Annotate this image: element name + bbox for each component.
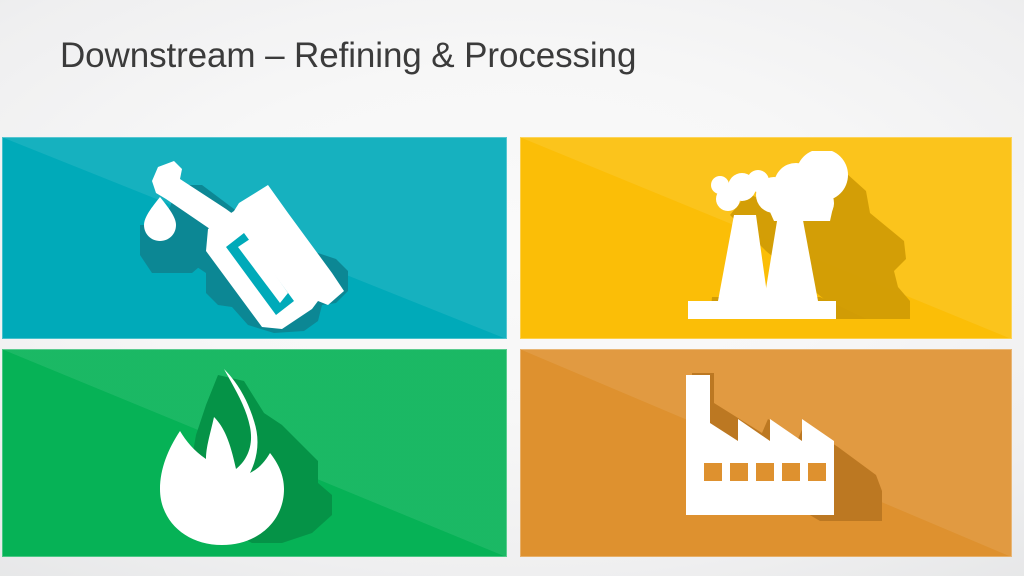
flame-icon (2, 349, 507, 557)
slide-canvas: Downstream – Refining & Processing (0, 0, 1024, 576)
factory-icon (520, 349, 1012, 557)
panel-smokestacks[interactable] (520, 137, 1012, 339)
page-title: Downstream – Refining & Processing (60, 30, 960, 82)
panel-flame[interactable] (2, 349, 507, 557)
panel-factory[interactable] (520, 349, 1012, 557)
fuel-nozzle-icon (2, 137, 507, 339)
title-block: Downstream – Refining & Processing (60, 30, 960, 90)
smokestack-icon (520, 137, 1012, 339)
panel-fuel-nozzle[interactable] (2, 137, 507, 339)
panel-grid (2, 137, 1012, 557)
